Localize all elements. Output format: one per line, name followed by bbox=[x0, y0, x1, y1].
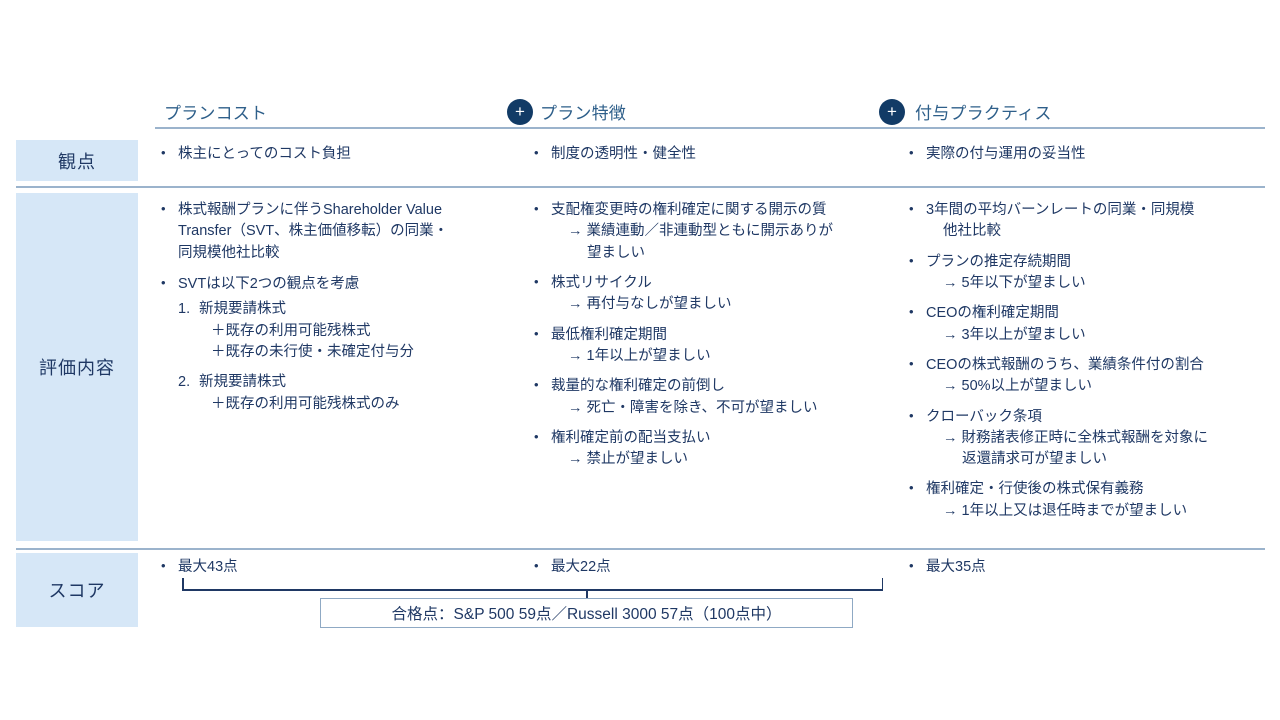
list-item: 最低権利確定期間→ 1年以上が望ましい bbox=[531, 325, 901, 368]
bullet-detail-line: → 業績連動／非連動型ともに開示ありが bbox=[551, 221, 901, 242]
row-label-score: スコア bbox=[16, 553, 138, 627]
passing-score-text: 合格点：S&P 500 59点／Russell 3000 57点（100点中） bbox=[392, 602, 782, 624]
item-line: 新規要請株式 bbox=[199, 299, 518, 320]
bullet-detail-line: → 50%以上が望ましい bbox=[926, 376, 1266, 397]
bullet-text-line: 同規模他社比較 bbox=[178, 243, 518, 264]
list-item: 権利確定前の配当支払い→ 禁止が望ましい bbox=[531, 428, 901, 471]
bullet-text-line: 3年間の平均バーンレートの同業・同規模 bbox=[926, 200, 1266, 221]
list-item: 制度の透明性・健全性 bbox=[531, 144, 901, 165]
list-item: クローバック条項→ 財務諸表修正時に全株式報酬を対象に返還請求可が望ましい bbox=[906, 407, 1266, 471]
bullet-detail-cont: 望ましい bbox=[551, 243, 901, 264]
item-line: ＋既存の利用可能残株式のみ bbox=[199, 394, 518, 415]
bullet-detail-line: → 再付与なしが望ましい bbox=[551, 294, 901, 315]
bracket-right-tick bbox=[882, 578, 884, 590]
item-line: 新規要請株式 bbox=[199, 372, 518, 393]
bullet-text-line: 権利確定前の配当支払い bbox=[551, 428, 901, 449]
list-item: CEOの権利確定期間→ 3年以上が望ましい bbox=[906, 303, 1266, 346]
item-number: 2. bbox=[178, 372, 190, 393]
divider-viewpoint-detail bbox=[16, 186, 1265, 188]
bullet-detail-line: → 5年以下が望ましい bbox=[926, 273, 1266, 294]
passing-score-box: 合格点：S&P 500 59点／Russell 3000 57点（100点中） bbox=[320, 598, 853, 628]
bullet-text-line: 裁量的な権利確定の前倒し bbox=[551, 376, 901, 397]
header-underline bbox=[155, 127, 1265, 129]
bullet-text-line: 最低権利確定期間 bbox=[551, 325, 901, 346]
viewpoint-col2: 制度の透明性・健全性 bbox=[531, 144, 901, 175]
list-item: 3年間の平均バーンレートの同業・同規模他社比較 bbox=[906, 200, 1266, 243]
bullet-detail-line: → 3年以上が望ましい bbox=[926, 325, 1266, 346]
bullet-text-line: 株式報酬プランに伴うShareholder Value bbox=[178, 200, 518, 221]
list-item: 最大35点 bbox=[906, 557, 1266, 578]
bullet-detail-line: 他社比較 bbox=[926, 221, 1266, 242]
bullet-text-line: 支配権変更時の権利確定に関する開示の質 bbox=[551, 200, 901, 221]
list-item: 株式報酬プランに伴うShareholder Value Transfer（SVT… bbox=[158, 200, 518, 264]
slide-canvas: + + プランコスト プラン特徴 付与プラクティス 観点 評価内容 スコア 株主… bbox=[0, 0, 1280, 720]
bracket-horizontal bbox=[182, 589, 883, 591]
row-label-detail: 評価内容 bbox=[16, 193, 138, 541]
list-item: 最大43点 bbox=[158, 557, 518, 578]
bullet-text-line: Transfer（SVT、株主価値移転）の同業・ bbox=[178, 221, 518, 242]
column-header-plan-cost: プランコスト bbox=[164, 99, 267, 124]
list-item: プランの推定存続期間→ 5年以下が望ましい bbox=[906, 252, 1266, 295]
numbered-list: 1. 新規要請株式 ＋既存の利用可能残株式 ＋既存の未行使・未確定付与分 2. … bbox=[178, 299, 518, 415]
score-col3: 最大35点 bbox=[906, 557, 1266, 588]
score-value: 最大43点 bbox=[178, 559, 238, 575]
bullet-text: 制度の透明性・健全性 bbox=[551, 146, 696, 162]
viewpoint-col1: 株主にとってのコスト負担 bbox=[158, 144, 518, 175]
score-col2: 最大22点 bbox=[531, 557, 901, 588]
bullet-text-line: CEOの株式報酬のうち、業績条件付の割合 bbox=[926, 355, 1266, 376]
item-number: 1. bbox=[178, 299, 190, 320]
bullet-text-line: 株式リサイクル bbox=[551, 273, 901, 294]
list-item: 支配権変更時の権利確定に関する開示の質→ 業績連動／非連動型ともに開示ありが望ま… bbox=[531, 200, 901, 264]
bullet-detail-line: → 1年以上又は退任時までが望ましい bbox=[926, 501, 1266, 522]
list-item: 実際の付与運用の妥当性 bbox=[906, 144, 1266, 165]
list-item: 裁量的な権利確定の前倒し→ 死亡・障害を除き、不可が望ましい bbox=[531, 376, 901, 419]
bullet-detail-line: → 1年以上が望ましい bbox=[551, 346, 901, 367]
score-col1: 最大43点 bbox=[158, 557, 518, 588]
bullet-detail-line: → 財務諸表修正時に全株式報酬を対象に bbox=[926, 428, 1266, 449]
column-header-grant-practice: 付与プラクティス bbox=[915, 99, 1052, 124]
score-value: 最大35点 bbox=[926, 559, 986, 575]
detail-col3: 3年間の平均バーンレートの同業・同規模他社比較プランの推定存続期間→ 5年以下が… bbox=[906, 200, 1266, 531]
list-item: CEOの株式報酬のうち、業績条件付の割合→ 50%以上が望ましい bbox=[906, 355, 1266, 398]
list-item: 株主にとってのコスト負担 bbox=[158, 144, 518, 165]
score-value: 最大22点 bbox=[551, 559, 611, 575]
list-item: 株式リサイクル→ 再付与なしが望ましい bbox=[531, 273, 901, 316]
plus-icon-plan-features: + bbox=[507, 99, 533, 125]
item-line: ＋既存の利用可能残株式 bbox=[199, 321, 518, 342]
bullet-detail-line: → 禁止が望ましい bbox=[551, 449, 901, 470]
bullet-text-line: SVTは以下2つの観点を考慮 bbox=[178, 274, 518, 295]
numbered-item: 1. 新規要請株式 ＋既存の利用可能残株式 ＋既存の未行使・未確定付与分 bbox=[178, 299, 518, 363]
bullet-text-line: クローバック条項 bbox=[926, 407, 1266, 428]
plus-icon-grant-practice: + bbox=[879, 99, 905, 125]
bullet-detail-cont: 返還請求可が望ましい bbox=[926, 449, 1266, 470]
detail-col1: 株式報酬プランに伴うShareholder Value Transfer（SVT… bbox=[158, 200, 518, 425]
divider-detail-score bbox=[16, 548, 1265, 550]
bullet-text-line: プランの推定存続期間 bbox=[926, 252, 1266, 273]
list-item: SVTは以下2つの観点を考慮 1. 新規要請株式 ＋既存の利用可能残株式 ＋既存… bbox=[158, 274, 518, 415]
bullet-text: 実際の付与運用の妥当性 bbox=[926, 146, 1086, 162]
row-label-viewpoint: 観点 bbox=[16, 140, 138, 181]
bullet-detail-line: → 死亡・障害を除き、不可が望ましい bbox=[551, 398, 901, 419]
bullet-text-line: CEOの権利確定期間 bbox=[926, 303, 1266, 324]
list-item: 権利確定・行使後の株式保有義務→ 1年以上又は退任時までが望ましい bbox=[906, 479, 1266, 522]
list-item: 最大22点 bbox=[531, 557, 901, 578]
column-header-plan-features: プラン特徴 bbox=[540, 99, 626, 124]
item-line: ＋既存の未行使・未確定付与分 bbox=[199, 342, 518, 363]
numbered-item: 2. 新規要請株式 ＋既存の利用可能残株式のみ bbox=[178, 372, 518, 415]
detail-col2: 支配権変更時の権利確定に関する開示の質→ 業績連動／非連動型ともに開示ありが望ま… bbox=[531, 200, 901, 479]
bullet-text: 株主にとってのコスト負担 bbox=[178, 146, 351, 162]
viewpoint-col3: 実際の付与運用の妥当性 bbox=[906, 144, 1266, 175]
bullet-text-line: 権利確定・行使後の株式保有義務 bbox=[926, 479, 1266, 500]
